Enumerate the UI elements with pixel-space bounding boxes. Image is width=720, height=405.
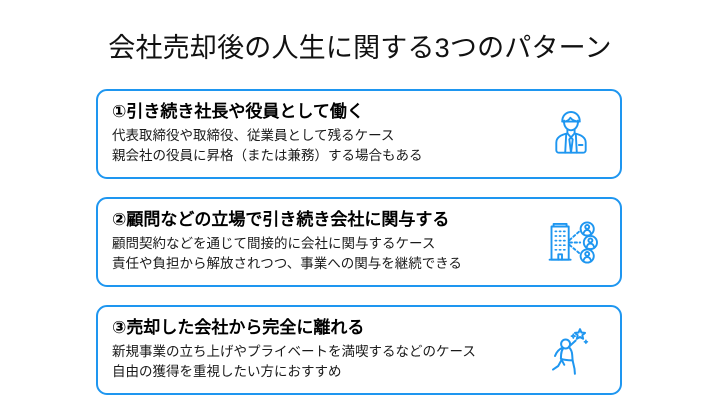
pattern-card-1-text: ①引き続き社長や役員として働く 代表取締役や取締役、従業員として残るケース 親会… bbox=[112, 101, 532, 166]
pattern-card-2-line-1: 顧問契約などを通じて間接的に会社に関与するケース bbox=[112, 234, 532, 254]
pattern-card-list: ①引き続き社長や役員として働く 代表取締役や取締役、従業員として残るケース 親会… bbox=[96, 89, 622, 395]
pattern-card-3: ③売却した会社から完全に離れる 新規事業の立ち上げやプライベートを満喫するなどの… bbox=[96, 305, 622, 395]
pattern-card-1-heading: ①引き続き社長や役員として働く bbox=[112, 101, 532, 123]
company-network-icon bbox=[540, 211, 602, 273]
businessman-icon bbox=[540, 103, 602, 165]
pattern-card-1-line-1: 代表取締役や取締役、従業員として残るケース bbox=[112, 126, 532, 146]
pattern-card-2-text: ②顧問などの立場で引き続き会社に関与する 顧問契約などを通じて間接的に会社に関与… bbox=[112, 209, 532, 274]
pattern-card-1-lines: 代表取締役や取締役、従業員として残るケース 親会社の役員に昇格（または兼務）する… bbox=[112, 126, 532, 166]
pattern-card-1-line-2: 親会社の役員に昇格（または兼務）する場合もある bbox=[112, 146, 532, 166]
pattern-card-3-text: ③売却した会社から完全に離れる 新規事業の立ち上げやプライベートを満喫するなどの… bbox=[112, 317, 532, 382]
person-reaching-star-icon bbox=[540, 319, 602, 381]
pattern-card-2-lines: 顧問契約などを通じて間接的に会社に関与するケース 責任や負担から解放されつつ、事… bbox=[112, 234, 532, 274]
pattern-card-3-line-1: 新規事業の立ち上げやプライベートを満喫するなどのケース bbox=[112, 342, 532, 362]
pattern-card-2-heading: ②顧問などの立場で引き続き会社に関与する bbox=[112, 209, 532, 231]
pattern-card-3-heading: ③売却した会社から完全に離れる bbox=[112, 317, 532, 339]
pattern-card-2-line-2: 責任や負担から解放されつつ、事業への関与を継続できる bbox=[112, 254, 532, 274]
page-title: 会社売却後の人生に関する3つのパターン bbox=[0, 31, 720, 65]
pattern-card-2: ②顧問などの立場で引き続き会社に関与する 顧問契約などを通じて間接的に会社に関与… bbox=[96, 197, 622, 287]
pattern-card-1: ①引き続き社長や役員として働く 代表取締役や取締役、従業員として残るケース 親会… bbox=[96, 89, 622, 179]
pattern-card-3-lines: 新規事業の立ち上げやプライベートを満喫するなどのケース 自由の獲得を重視したい方… bbox=[112, 342, 532, 382]
pattern-card-3-line-2: 自由の獲得を重視したい方におすすめ bbox=[112, 362, 532, 382]
slide-root: 会社売却後の人生に関する3つのパターン ①引き続き社長や役員として働く 代表取締… bbox=[0, 0, 720, 405]
